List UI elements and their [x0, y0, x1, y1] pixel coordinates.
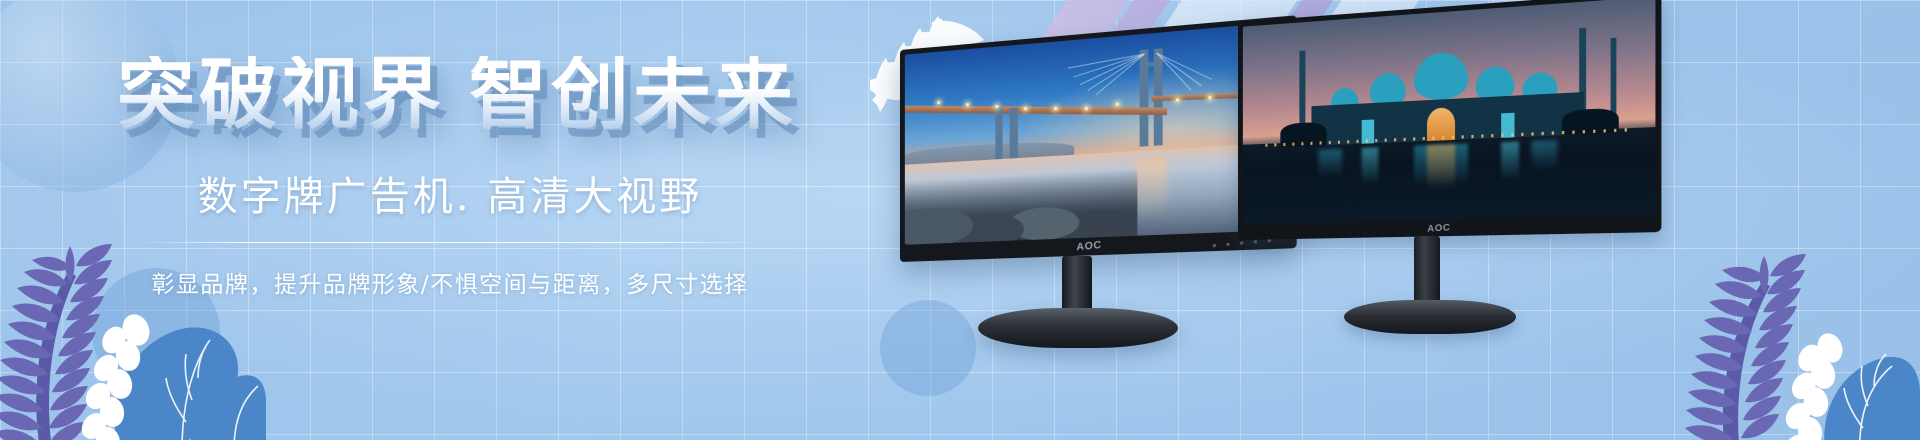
headline-part-1: 突破视界: [117, 50, 445, 140]
promo-banner: 突破视界智创未来 数字牌广告机. 高清大视野 彰显品牌，提升品牌形象/不惧空间与…: [0, 0, 1920, 440]
monitor-rear-stand-neck: [1414, 236, 1440, 308]
monitor-rear: AOC: [1238, 22, 1630, 342]
divider-rule: [135, 242, 765, 243]
product-category-label: 数字牌广告机: [0, 0, 1, 1]
monitor-front-brand: AOC: [1076, 240, 1101, 254]
monitor-front-screen: [905, 21, 1291, 245]
monitor-rear-screen: [1243, 0, 1656, 224]
banner-copy: 突破视界智创未来 数字牌广告机. 高清大视野 彰显品牌，提升品牌形象/不惧空间与…: [0, 56, 900, 299]
monitor-front: AOC: [900, 50, 1272, 340]
botanical-leaves-right-icon: [1630, 156, 1920, 440]
banner-tagline: 彰显品牌，提升品牌形象/不惧空间与距离，多尺寸选择: [0, 265, 900, 299]
banner-headline: 突破视界智创未来: [0, 56, 900, 134]
monitor-front-stand-base: [978, 308, 1178, 348]
monitor-rear-bezel: AOC: [1238, 0, 1661, 240]
monitor-rear-brand: AOC: [1427, 222, 1450, 234]
monitor-rear-stand-base: [1344, 300, 1516, 334]
headline-part-2: 智创未来: [469, 50, 797, 140]
screen-rocks: [905, 168, 1137, 245]
banner-subline: 数字牌广告机. 高清大视野: [0, 164, 900, 222]
